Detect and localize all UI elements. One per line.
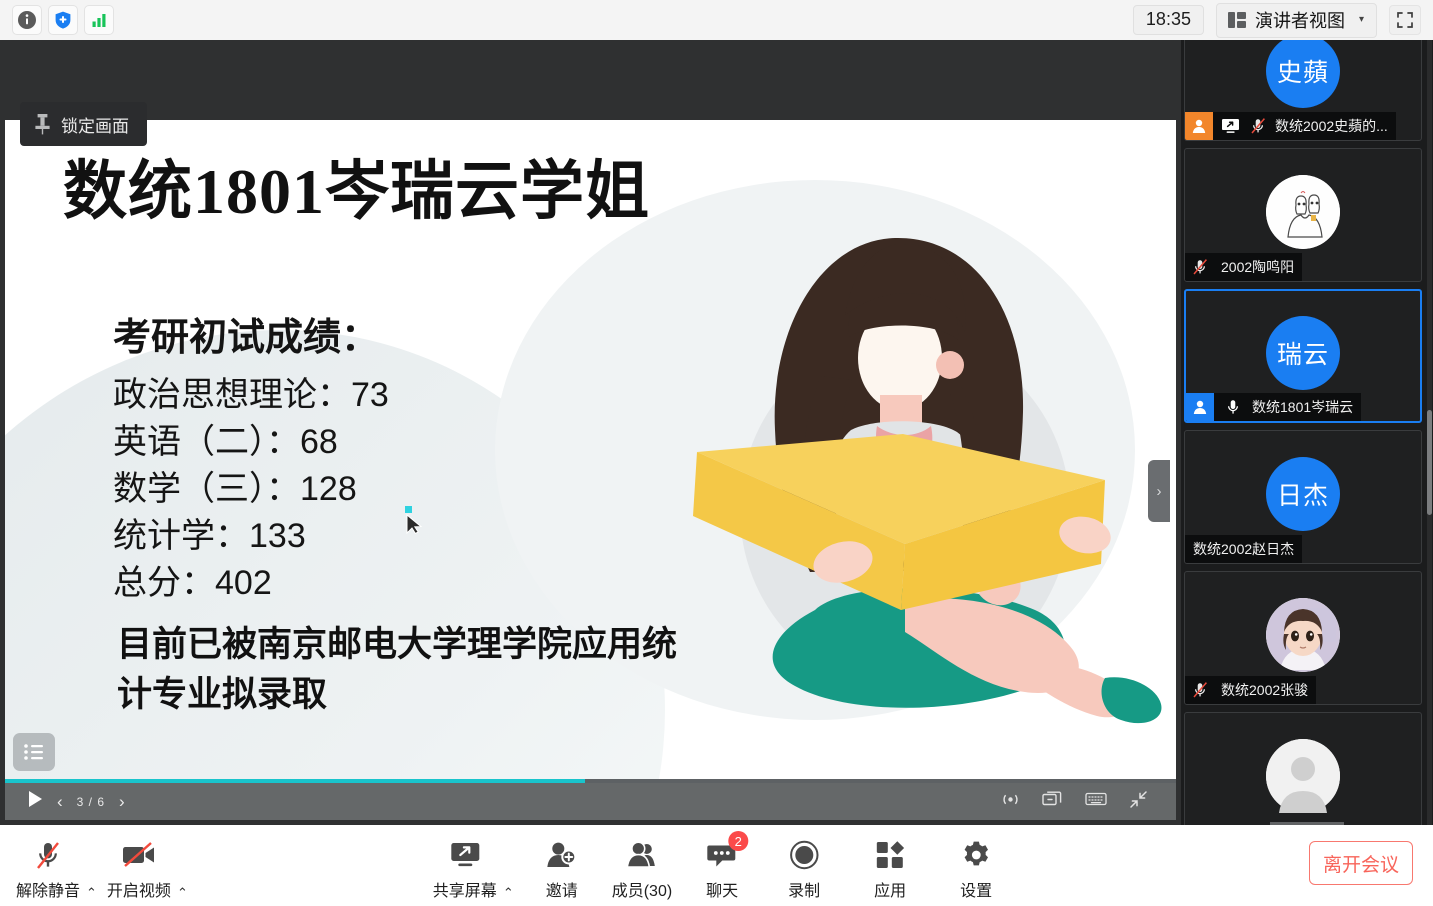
invite-label: 邀请 — [546, 877, 578, 901]
slide-note: 目前已被南京邮电大学理学院应用统计专业拟录取 — [117, 620, 697, 720]
participant-name: 数统1801岑瑞云 — [1252, 397, 1353, 417]
unmute-label: 解除静音 — [16, 877, 80, 901]
participant-tile[interactable]: 数统2002张骏 — [1184, 571, 1422, 705]
participant-name: 2002陶鸣阳 — [1221, 257, 1294, 277]
avatar — [1266, 175, 1340, 249]
score-line: 英语（二）：68 — [113, 419, 389, 466]
slide-controls: ‹ 3 / 6 › — [5, 783, 1176, 820]
mic-muted-icon — [1185, 676, 1215, 704]
chat-label: 聊天 — [706, 877, 738, 901]
bottom-toolbar: 解除静音 ⌃ 开启视频 ⌃ 共享屏幕 ⌃ — [0, 825, 1433, 906]
avatar — [1266, 598, 1340, 672]
chevron-left-icon[interactable]: ‹ — [57, 793, 63, 810]
mic-muted-icon — [1185, 253, 1215, 281]
exit-fullscreen-icon[interactable] — [1129, 790, 1148, 814]
avatar: 史蘋 — [1266, 40, 1340, 108]
host-badge-icon — [1185, 112, 1213, 140]
participant-tile[interactable]: 2002陶鸣阳 — [1184, 148, 1422, 282]
avatar — [1266, 739, 1340, 813]
avatar: 瑞云 — [1266, 316, 1340, 390]
camera-muted-icon — [120, 835, 158, 875]
participant-tile[interactable]: 史蘋 数统2002史蘋的... — [1184, 40, 1422, 141]
apps-icon — [875, 835, 905, 875]
participant-name: 数统2002赵日杰 — [1193, 539, 1294, 559]
record-label: 录制 — [788, 877, 820, 901]
scroll-down-button[interactable] — [1270, 822, 1344, 825]
share-screen-icon — [448, 835, 482, 875]
participant-name: 数统2002张骏 — [1221, 680, 1308, 700]
keyboard-icon[interactable] — [1085, 791, 1107, 812]
signal-bars-icon[interactable] — [84, 5, 114, 35]
participant-name-bar: 数统2002赵日杰 — [1185, 535, 1302, 563]
lock-screen-label: 锁定画面 — [61, 112, 129, 137]
participant-name: 数统2002史蘋的... — [1275, 116, 1388, 136]
shared-screen-stage: 锁定画面 — [0, 40, 1181, 825]
screen-share-icon — [1219, 112, 1241, 140]
start-video-label: 开启视频 — [107, 877, 171, 901]
slide-subtitle: 考研初试成绩： — [113, 306, 379, 361]
default-person-icon — [1266, 739, 1340, 813]
shield-plus-icon[interactable] — [48, 5, 78, 35]
chevron-right-icon: › — [1157, 483, 1162, 500]
host-badge-icon — [1186, 393, 1214, 421]
presenter-window-icon[interactable] — [1042, 790, 1063, 813]
share-screen-button[interactable]: 共享屏幕 — [425, 831, 505, 901]
top-bar-right: 18:35 演讲者视图 ▾ — [1133, 3, 1433, 38]
invite-button[interactable]: 邀请 — [530, 831, 594, 901]
info-icon[interactable] — [12, 5, 42, 35]
meeting-window: 18:35 演讲者视图 ▾ 锁定画面 — [0, 0, 1433, 906]
chat-unread-badge: 2 — [728, 831, 748, 851]
pin-icon — [34, 113, 51, 135]
avatar: 日杰 — [1266, 457, 1340, 531]
apps-button[interactable]: 应用 — [858, 831, 922, 901]
settings-button[interactable]: 设置 — [944, 831, 1008, 901]
chevron-down-icon: ▾ — [1359, 14, 1364, 25]
participant-name-bar: 数统2002史蘋的... — [1185, 112, 1396, 140]
members-button[interactable]: 成员(30) — [604, 831, 680, 901]
top-bar: 18:35 演讲者视图 ▾ — [0, 0, 1433, 40]
slide-content: 数统1801岑瑞云学姐 考研初试成绩： 政治思想理论：73 英语（二）：68 数… — [5, 120, 1176, 779]
participant-scrollbar[interactable] — [1427, 40, 1432, 825]
fullscreen-icon[interactable] — [1389, 5, 1421, 35]
chat-button[interactable]: 2 聊天 — [690, 831, 754, 901]
list-icon[interactable] — [13, 733, 55, 771]
person-add-icon — [546, 835, 578, 875]
mic-muted-icon — [1247, 112, 1269, 140]
top-bar-left-icons — [0, 5, 114, 35]
participant-name-bar: 数统1801岑瑞云 — [1186, 393, 1361, 421]
mic-muted-icon — [33, 835, 63, 875]
participant-strip: 史蘋 数统2002史蘋的... — [1181, 40, 1433, 825]
apps-label: 应用 — [874, 877, 906, 901]
anime-avatar-image — [1266, 598, 1340, 672]
slide-page-indicator: 3 / 6 — [77, 795, 105, 809]
score-line: 统计学：133 — [113, 513, 389, 560]
slide-title: 数统1801岑瑞云学姐 — [63, 140, 650, 232]
view-mode-selector[interactable]: 演讲者视图 ▾ — [1216, 3, 1377, 38]
score-line: 政治思想理论：73 — [113, 372, 389, 419]
mic-on-icon — [1220, 393, 1246, 421]
view-mode-label: 演讲者视图 — [1255, 7, 1345, 33]
play-icon[interactable] — [27, 790, 43, 813]
record-button[interactable]: 录制 — [772, 831, 836, 901]
laser-pointer-icon[interactable] — [1001, 790, 1020, 814]
lock-screen-button[interactable]: 锁定画面 — [20, 102, 147, 146]
settings-label: 设置 — [960, 877, 992, 901]
unmute-button[interactable]: 解除静音 — [8, 831, 88, 901]
share-screen-label: 共享屏幕 — [433, 877, 497, 901]
score-line: 总分：402 — [113, 560, 389, 607]
record-icon — [789, 835, 819, 875]
score-list: 政治思想理论：73 英语（二）：68 数学（三）：128 统计学：133 总分：… — [113, 372, 389, 607]
start-video-button[interactable]: 开启视频 — [99, 831, 179, 901]
people-icon — [625, 835, 659, 875]
gear-icon — [961, 835, 991, 875]
clock: 18:35 — [1133, 5, 1204, 35]
participant-tile[interactable]: 日杰 数统2002赵日杰 — [1184, 430, 1422, 564]
participant-list: 史蘋 数统2002史蘋的... — [1181, 40, 1433, 825]
participant-tile[interactable] — [1184, 712, 1422, 825]
layout-icon — [1227, 11, 1247, 29]
members-label: 成员(30) — [612, 877, 672, 901]
score-line: 数学（三）：128 — [113, 466, 389, 513]
participant-tile-active[interactable]: 瑞云 数统1801岑瑞云 — [1184, 289, 1422, 423]
participant-name-bar: 数统2002张骏 — [1185, 676, 1316, 704]
leave-meeting-button[interactable]: 离开会议 — [1309, 841, 1413, 885]
participant-name-bar: 2002陶鸣阳 — [1185, 253, 1302, 281]
chevron-right-icon[interactable]: › — [119, 793, 125, 810]
collapse-panel-handle[interactable]: › — [1148, 460, 1170, 522]
two-girls-avatar-image — [1266, 175, 1340, 249]
